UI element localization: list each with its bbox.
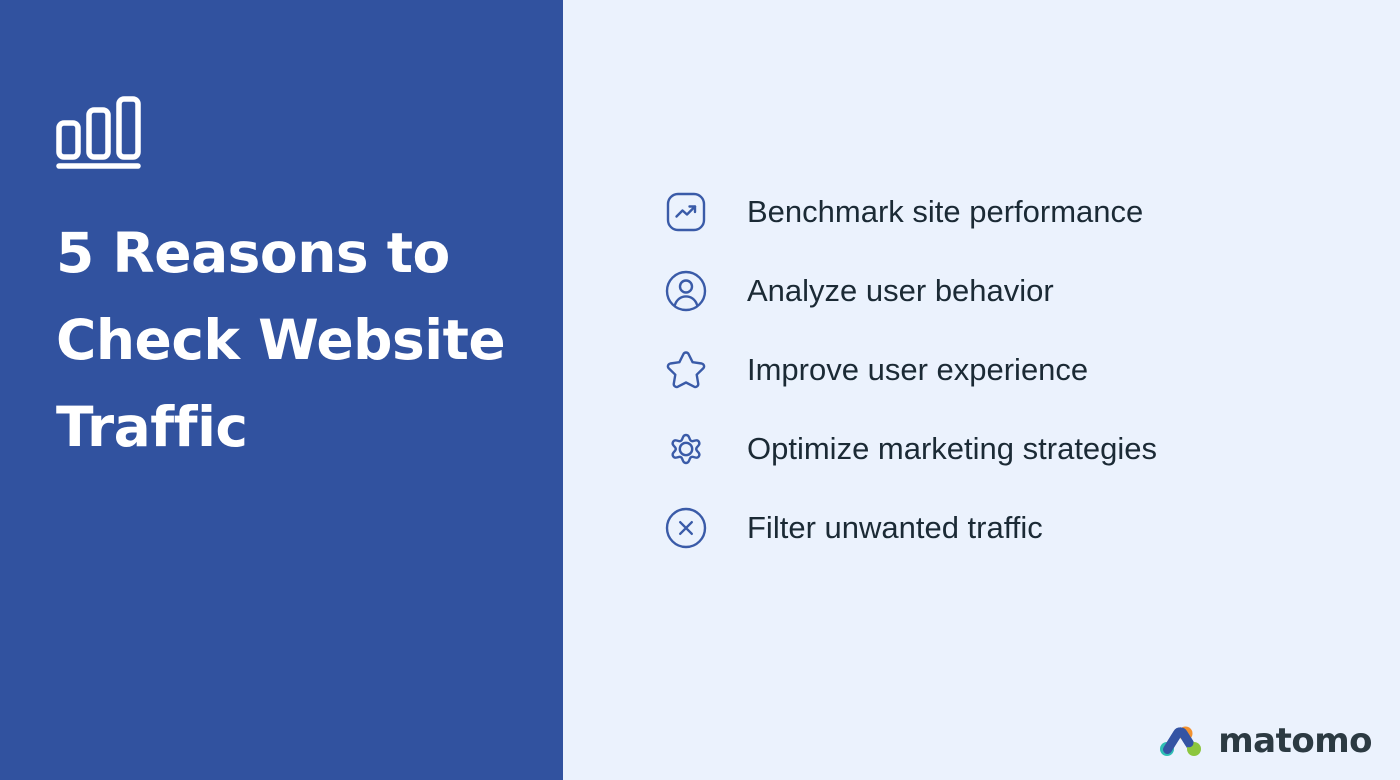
matomo-logo: matomo: [1159, 724, 1372, 758]
list-item-label: Benchmark site performance: [747, 195, 1143, 229]
bar-chart-icon: [56, 96, 148, 170]
benefits-list: Benchmark site performance Analyze user …: [663, 186, 1157, 554]
list-item: Benchmark site performance: [663, 186, 1157, 238]
list-item-label: Analyze user behavior: [747, 274, 1054, 308]
list-item-label: Optimize marketing strategies: [747, 432, 1157, 466]
matomo-logo-mark: [1159, 725, 1207, 757]
matomo-wordmark: matomo: [1218, 724, 1372, 758]
list-item: Analyze user behavior: [663, 265, 1157, 317]
trending-up-square-icon: [663, 189, 709, 235]
star-icon: [663, 347, 709, 393]
close-circle-icon: [663, 505, 709, 551]
page-title: 5 Reasons to Check Website Traffic: [56, 210, 507, 471]
list-item-label: Filter unwanted traffic: [747, 511, 1043, 545]
right-panel: Benchmark site performance Analyze user …: [563, 0, 1400, 780]
gear-icon: [663, 426, 709, 472]
list-item-label: Improve user experience: [747, 353, 1088, 387]
slide-root: 5 Reasons to Check Website Traffic Bench…: [0, 0, 1400, 780]
list-item: Improve user experience: [663, 344, 1157, 396]
left-panel: 5 Reasons to Check Website Traffic: [0, 0, 563, 780]
list-item: Filter unwanted traffic: [663, 502, 1157, 554]
user-circle-icon: [663, 268, 709, 314]
list-item: Optimize marketing strategies: [663, 423, 1157, 475]
